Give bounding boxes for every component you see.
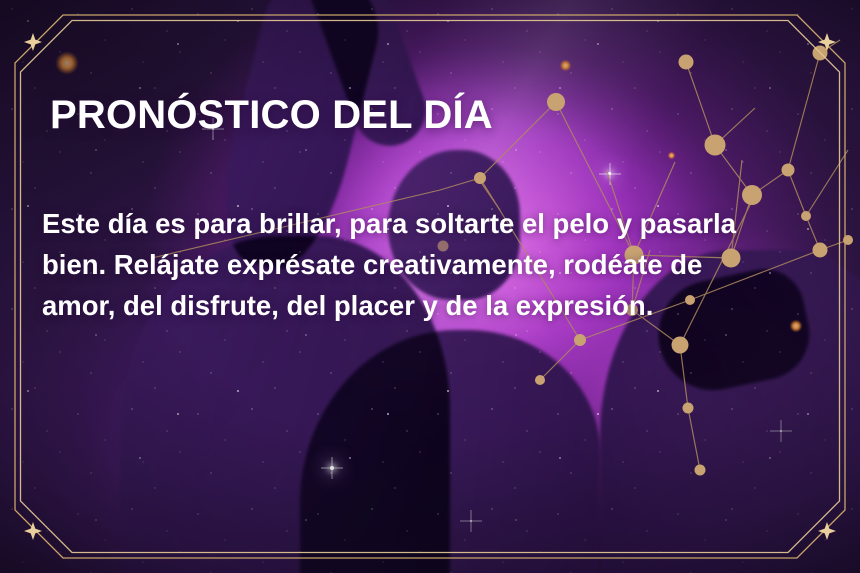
page-title: PRONÓSTICO DEL DÍA [50,93,493,138]
horoscope-body-text: Este día es para brillar, para soltarte … [42,203,782,326]
card-content: PRONÓSTICO DEL DÍA Este día es para bril… [0,0,860,573]
horoscope-card: PRONÓSTICO DEL DÍA Este día es para bril… [0,0,860,573]
